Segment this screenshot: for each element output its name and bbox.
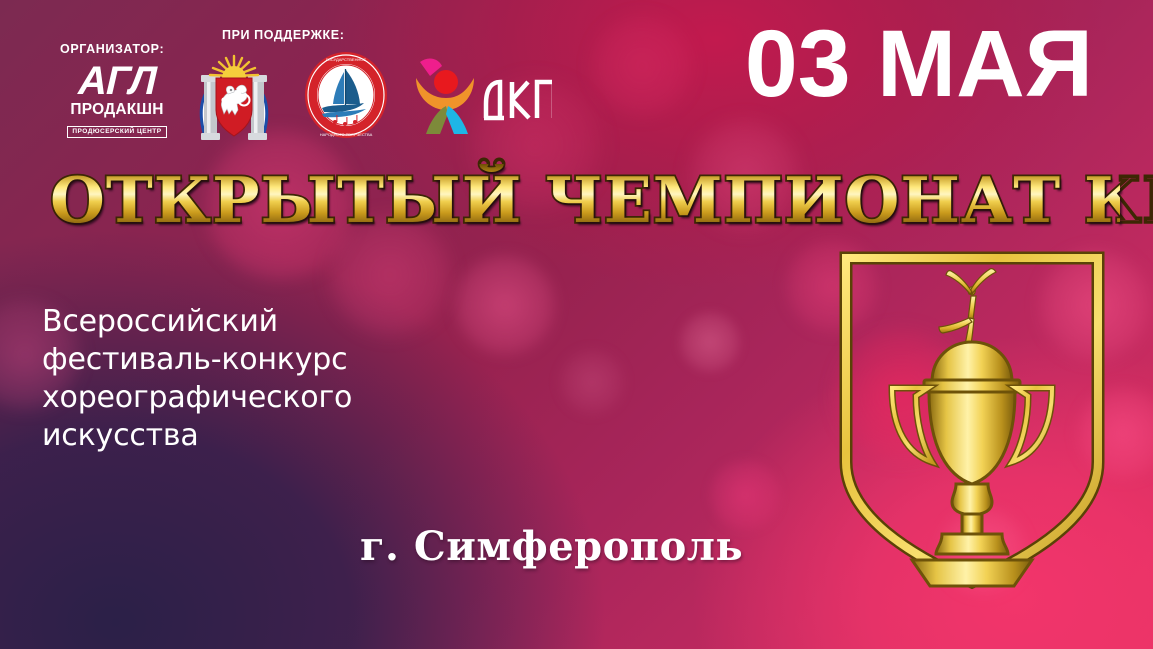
- subtitle-line: хореографического: [42, 379, 352, 417]
- subtitle-block: Всероссийский фестиваль-конкурс хореогра…: [42, 303, 352, 455]
- sailboat-seal-icon: ГОСУДАРСТВЕННОЕ НАРОДНОГО ТВОРЧЕСТВА: [302, 50, 390, 140]
- trophy-shield-emblem: [836, 248, 1108, 590]
- event-date: 03 МАЯ: [745, 8, 1093, 120]
- dkp-logo[interactable]: [404, 52, 552, 138]
- subtitle-line: фестиваль-конкурс: [42, 341, 352, 379]
- bokeh-circle: [560, 350, 624, 414]
- bokeh-circle: [710, 460, 780, 530]
- crimea-coat-of-arms-icon: [192, 48, 276, 140]
- agl-logo-sub2: ПРОДЮСЕРСКИЙ ЦЕНТР: [67, 126, 166, 139]
- agl-logo[interactable]: АГЛ ПРОДАКШН ПРОДЮСЕРСКИЙ ЦЕНТР: [62, 62, 172, 138]
- crimea-coat-of-arms-logo[interactable]: [192, 48, 276, 140]
- page-title: ОТКРЫТЫЙ ЧЕМПИОНАТ КРЫМА: [50, 164, 1120, 236]
- subtitle-line: Всероссийский: [42, 303, 352, 341]
- city-label: г. Симферополь: [360, 522, 743, 572]
- bokeh-circle: [592, 16, 692, 116]
- svg-text:НАРОДНОГО ТВОРЧЕСТВА: НАРОДНОГО ТВОРЧЕСТВА: [320, 132, 373, 137]
- dkp-figure-icon: [404, 52, 552, 138]
- svg-text:ГОСУДАРСТВЕННОЕ: ГОСУДАРСТВЕННОЕ: [326, 57, 367, 62]
- trophy-shield-icon: [836, 248, 1108, 590]
- organizer-caption: ОРГАНИЗАТОР:: [60, 42, 164, 56]
- sailboat-seal-logo[interactable]: ГОСУДАРСТВЕННОЕ НАРОДНОГО ТВОРЧЕСТВА: [302, 50, 390, 140]
- poster-root: ОРГАНИЗАТОР: ПРИ ПОДДЕРЖКЕ: АГЛ ПРОДАКШН…: [0, 0, 1153, 649]
- bokeh-circle: [680, 312, 740, 372]
- agl-logo-sub: ПРОДАКШН: [62, 101, 172, 118]
- bokeh-circle: [455, 255, 555, 355]
- agl-logo-main: АГЛ: [61, 62, 172, 100]
- support-caption: ПРИ ПОДДЕРЖКЕ:: [222, 28, 344, 42]
- logo-row: ОРГАНИЗАТОР: ПРИ ПОДДЕРЖКЕ: АГЛ ПРОДАКШН…: [0, 0, 560, 150]
- subtitle-line: искусства: [42, 417, 352, 455]
